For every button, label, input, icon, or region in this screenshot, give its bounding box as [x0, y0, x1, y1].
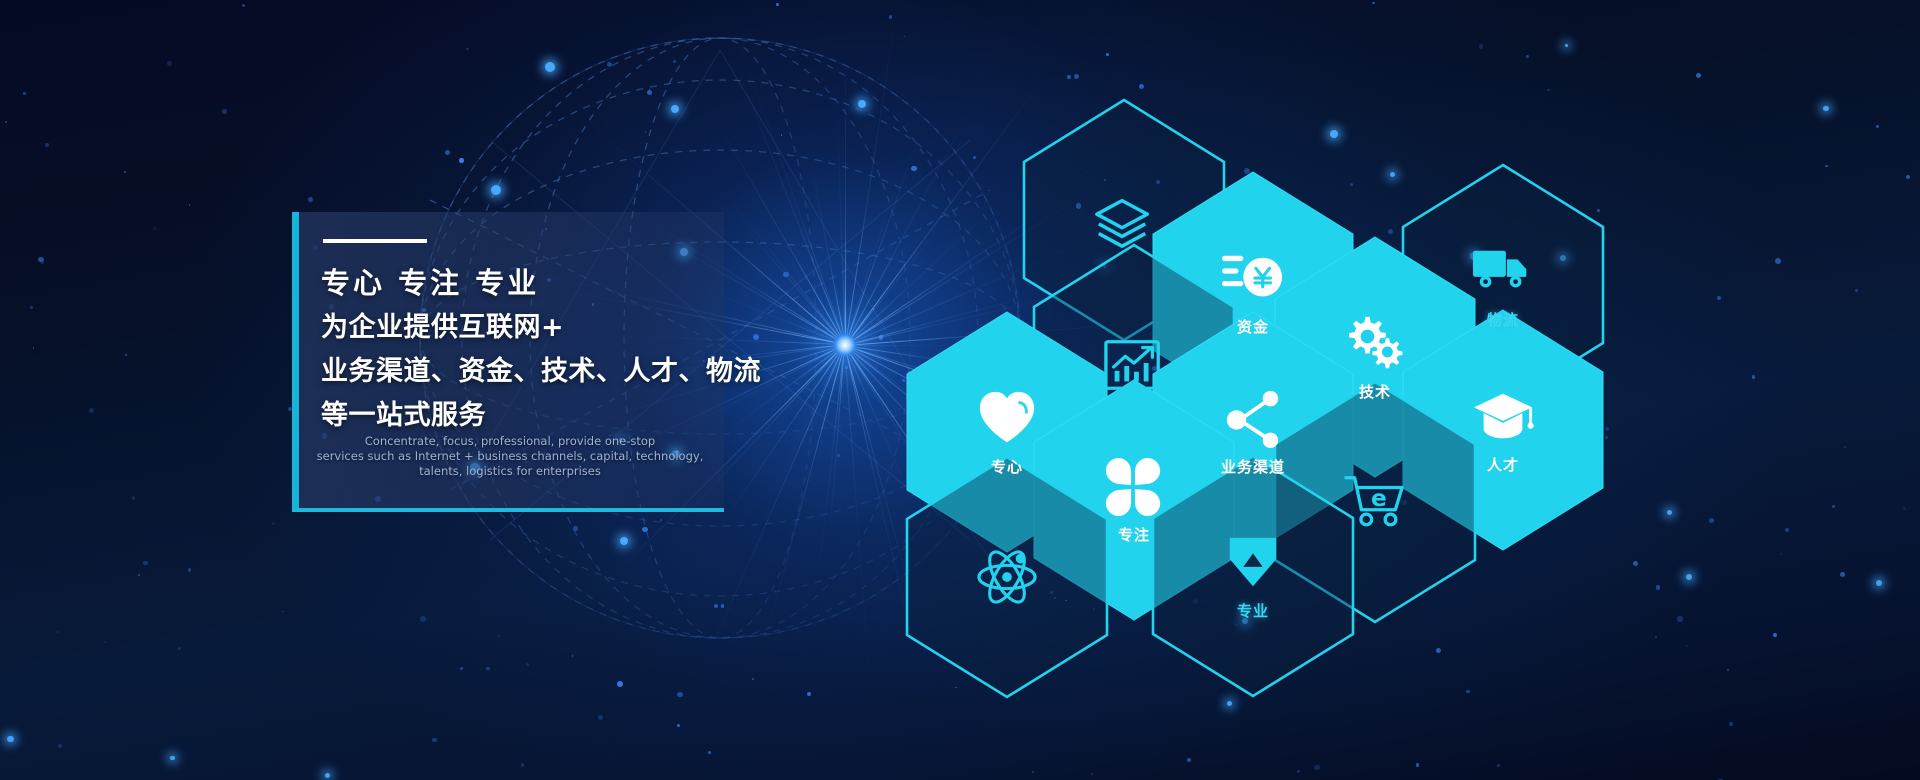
- diamond-icon: [1222, 532, 1284, 594]
- share-node-icon: [1222, 388, 1284, 450]
- svg-text:e: e: [1371, 485, 1387, 512]
- shopping-cart-e-icon: e: [1344, 471, 1406, 533]
- hexagon-label: 技术: [1359, 381, 1391, 402]
- hexagon-label: 专注: [1118, 524, 1150, 545]
- hexagon-label: 专心: [991, 456, 1023, 477]
- chart-growth-icon: [1103, 334, 1165, 396]
- hexagon-label: 专业: [1237, 600, 1269, 621]
- gears-icon: [1344, 313, 1406, 375]
- graduation-cap-icon: [1472, 386, 1534, 448]
- hero-banner: 专心 专注 专业 为企业提供互联网+ 业务渠道、资金、技术、人才、物流 等一站式…: [0, 0, 1920, 780]
- hexagon-pro[interactable]: 专业: [1145, 452, 1361, 700]
- hexagon-label: 业务渠道: [1221, 456, 1285, 477]
- layers-icon: [1093, 189, 1155, 251]
- atom-icon: [976, 546, 1038, 608]
- hexagon-label: 资金: [1237, 316, 1269, 337]
- clover-icon: [1103, 456, 1165, 518]
- heart-icon: [976, 388, 1038, 450]
- hexagon-label: 人才: [1487, 454, 1519, 475]
- truck-icon: [1472, 241, 1534, 303]
- hexagon-cluster: 资金 物流: [0, 0, 1920, 780]
- hexagon-atom[interactable]: [899, 453, 1115, 701]
- yen-coin-icon: [1222, 248, 1284, 310]
- hexagon-label: 物流: [1487, 309, 1519, 330]
